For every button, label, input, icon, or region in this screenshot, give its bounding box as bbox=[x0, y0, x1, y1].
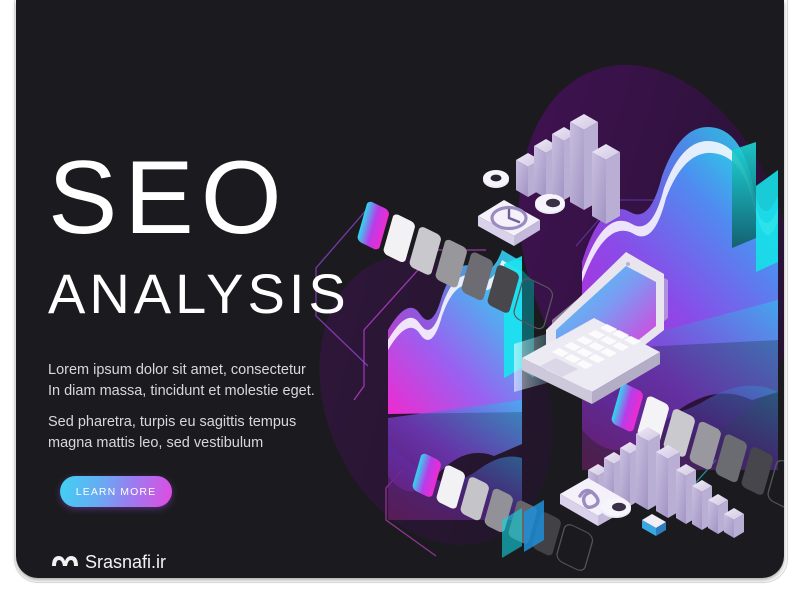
learn-more-button[interactable]: LEARN MORE bbox=[60, 476, 172, 507]
banner-stage: SEO ANALYSIS Lorem ipsum dolor sit amet,… bbox=[0, 0, 800, 600]
dark-banner-panel: SEO ANALYSIS Lorem ipsum dolor sit amet,… bbox=[16, 0, 784, 578]
watermark-text: Srasnafi.ir bbox=[85, 552, 166, 573]
watermark: Srasnafi.ir bbox=[50, 550, 166, 575]
page-title: SEO bbox=[48, 148, 289, 250]
arch-logo-icon bbox=[50, 550, 80, 575]
description-paragraph-2: Sed pharetra, turpis eu sagittis tempus … bbox=[48, 412, 296, 454]
page-subtitle: ANALYSIS bbox=[48, 266, 350, 322]
description-paragraph-1: Lorem ipsum dolor sit amet, consectetur … bbox=[48, 360, 315, 402]
